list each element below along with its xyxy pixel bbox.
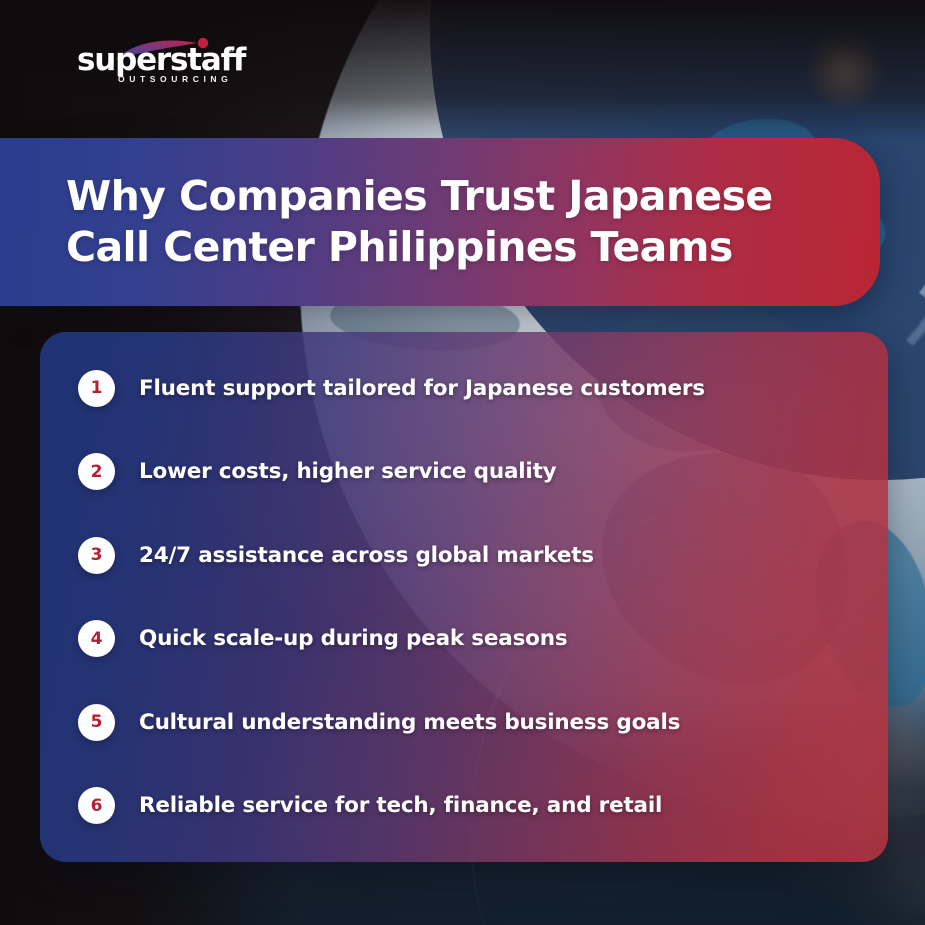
list-item-label: Quick scale-up during peak seasons xyxy=(139,626,567,651)
panel-sheen xyxy=(40,332,888,862)
list-item-label: Cultural understanding meets business go… xyxy=(139,710,680,735)
list-item-number-badge: 4 xyxy=(78,620,115,657)
list-item-number-badge: 1 xyxy=(78,370,115,407)
infographic-canvas: superstaff ® OUTSOURCING Why Companies T… xyxy=(0,0,925,925)
header-banner: Why Companies Trust Japanese Call Center… xyxy=(0,138,880,306)
list-item-number-badge: 5 xyxy=(78,704,115,741)
list-item: 5 Cultural understanding meets business … xyxy=(40,700,888,744)
list-item-label: Fluent support tailored for Japanese cus… xyxy=(139,376,705,401)
page-title: Why Companies Trust Japanese Call Center… xyxy=(0,171,830,273)
list-item: 4 Quick scale-up during peak seasons xyxy=(40,617,888,661)
list-item-number-badge: 6 xyxy=(78,787,115,824)
logo-tagline: OUTSOURCING xyxy=(118,74,232,84)
list-item-number-badge: 2 xyxy=(78,453,115,490)
registered-mark-icon: ® xyxy=(228,46,235,54)
list-item-label: Reliable service for tech, finance, and … xyxy=(139,793,662,818)
logo-wordmark: superstaff xyxy=(77,45,245,76)
list-item: 6 Reliable service for tech, finance, an… xyxy=(40,784,888,828)
brand-logo[interactable]: superstaff ® OUTSOURCING xyxy=(77,40,247,82)
list-item-label: 24/7 assistance across global markets xyxy=(139,543,594,568)
list-item-label: Lower costs, higher service quality xyxy=(139,459,557,484)
benefits-list-panel: 1 Fluent support tailored for Japanese c… xyxy=(40,332,888,862)
list-item-number-badge: 3 xyxy=(78,537,115,574)
list-item: 1 Fluent support tailored for Japanese c… xyxy=(40,366,888,410)
list-item: 2 Lower costs, higher service quality xyxy=(40,450,888,494)
list-item: 3 24/7 assistance across global markets xyxy=(40,533,888,577)
